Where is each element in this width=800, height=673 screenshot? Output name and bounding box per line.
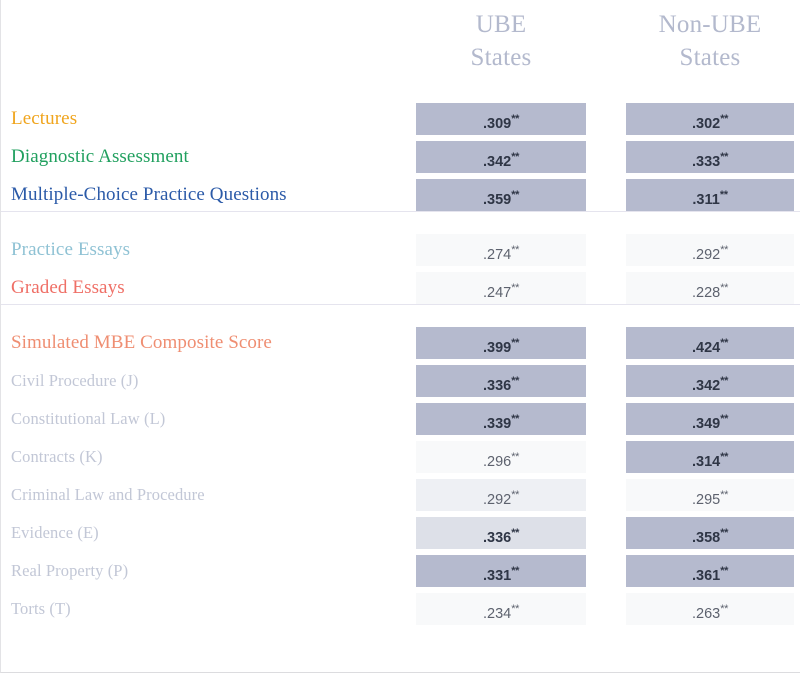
column-header-non-ube-line2: States — [626, 41, 794, 74]
significance-marker: ** — [720, 489, 728, 501]
significance-marker: ** — [720, 337, 728, 349]
value-text: .228 — [692, 285, 720, 301]
significance-marker: ** — [720, 151, 728, 163]
value-text: .358 — [692, 530, 720, 546]
table-row: Contracts (K).296**.314** — [1, 441, 800, 473]
value-text: .361 — [692, 568, 720, 584]
value-text: .349 — [692, 416, 720, 432]
significance-marker: ** — [511, 565, 519, 577]
row-label: Criminal Law and Procedure — [11, 479, 205, 511]
table-row: Real Property (P).331**.361** — [1, 555, 800, 587]
value-cell-non-ube: .314** — [626, 441, 794, 473]
significance-marker: ** — [511, 527, 519, 539]
significance-marker: ** — [511, 603, 519, 615]
row-label: Simulated MBE Composite Score — [11, 327, 272, 359]
significance-marker: ** — [511, 413, 519, 425]
row-label: Diagnostic Assessment — [11, 141, 189, 173]
value-cell-ube: .342** — [416, 141, 586, 173]
significance-marker: ** — [720, 603, 728, 615]
value-cell-ube: .296** — [416, 441, 586, 473]
row-label: Multiple-Choice Practice Questions — [11, 179, 287, 211]
value-cell-ube: .336** — [416, 365, 586, 397]
significance-marker: ** — [511, 337, 519, 349]
value-text: .296 — [483, 454, 511, 470]
value-text: .311 — [692, 192, 719, 208]
table-row: Graded Essays.247**.228** — [1, 272, 800, 304]
significance-marker: ** — [511, 113, 519, 125]
value-cell-non-ube: .349** — [626, 403, 794, 435]
value-text: .342 — [692, 378, 720, 394]
section-divider — [1, 211, 800, 212]
column-header-non-ube-states: Non-UBE States — [626, 8, 794, 74]
significance-marker: ** — [720, 282, 728, 294]
column-header-ube-line1: UBE — [476, 11, 527, 38]
value-cell-ube: .359** — [416, 179, 586, 211]
value-text: .292 — [483, 492, 511, 508]
significance-marker: ** — [720, 565, 728, 577]
significance-marker: ** — [511, 489, 519, 501]
significance-marker: ** — [720, 413, 728, 425]
table-row: Evidence (E).336**.358** — [1, 517, 800, 549]
value-cell-ube: .331** — [416, 555, 586, 587]
table-row: Practice Essays.274**.292** — [1, 234, 800, 266]
value-cell-ube: .247** — [416, 272, 586, 304]
table-row: Constitutional Law (L).339**.349** — [1, 403, 800, 435]
value-text: .314 — [692, 454, 720, 470]
value-text: .424 — [692, 340, 720, 356]
value-cell-ube: .234** — [416, 593, 586, 625]
value-cell-ube: .274** — [416, 234, 586, 266]
value-text: .295 — [692, 492, 720, 508]
row-label: Real Property (P) — [11, 555, 128, 587]
row-label: Evidence (E) — [11, 517, 99, 549]
row-label: Constitutional Law (L) — [11, 403, 165, 435]
significance-marker: ** — [511, 282, 519, 294]
significance-marker: ** — [720, 527, 728, 539]
section-divider — [1, 304, 800, 305]
value-text: .342 — [483, 154, 511, 170]
value-text: .302 — [692, 116, 720, 132]
value-cell-non-ube: .361** — [626, 555, 794, 587]
value-text: .339 — [483, 416, 511, 432]
significance-marker: ** — [720, 244, 728, 256]
value-cell-non-ube: .342** — [626, 365, 794, 397]
row-label: Graded Essays — [11, 272, 125, 304]
value-cell-non-ube: .295** — [626, 479, 794, 511]
value-cell-non-ube: .302** — [626, 103, 794, 135]
value-text: .333 — [692, 154, 720, 170]
value-cell-non-ube: .263** — [626, 593, 794, 625]
value-text: .234 — [483, 606, 511, 622]
column-header-ube-states: UBE States — [416, 8, 586, 74]
significance-marker: ** — [511, 375, 519, 387]
value-cell-non-ube: .228** — [626, 272, 794, 304]
row-label: Contracts (K) — [11, 441, 103, 473]
column-header-row: UBE States Non-UBE States — [1, 0, 800, 90]
value-text: .399 — [483, 340, 511, 356]
value-text: .309 — [483, 116, 511, 132]
significance-marker: ** — [720, 189, 728, 201]
value-cell-non-ube: .292** — [626, 234, 794, 266]
value-text: .247 — [483, 285, 511, 301]
value-cell-ube: .336** — [416, 517, 586, 549]
value-text: .263 — [692, 606, 720, 622]
row-label: Lectures — [11, 103, 77, 135]
significance-marker: ** — [511, 244, 519, 256]
value-text: .292 — [692, 247, 720, 263]
significance-marker: ** — [511, 189, 519, 201]
value-cell-ube: .399** — [416, 327, 586, 359]
value-text: .274 — [483, 247, 511, 263]
significance-marker: ** — [511, 451, 519, 463]
table-row: Criminal Law and Procedure.292**.295** — [1, 479, 800, 511]
value-text: .336 — [483, 530, 511, 546]
value-text: .331 — [483, 568, 511, 584]
value-text: .359 — [483, 192, 511, 208]
significance-marker: ** — [720, 375, 728, 387]
table-row: Lectures.309**.302** — [1, 103, 800, 135]
significance-marker: ** — [720, 451, 728, 463]
value-cell-ube: .292** — [416, 479, 586, 511]
row-label: Civil Procedure (J) — [11, 365, 138, 397]
row-label: Practice Essays — [11, 234, 130, 266]
value-text: .336 — [483, 378, 511, 394]
value-cell-non-ube: .424** — [626, 327, 794, 359]
significance-marker: ** — [511, 151, 519, 163]
row-label: Torts (T) — [11, 593, 71, 625]
value-cell-non-ube: .358** — [626, 517, 794, 549]
table-row: Simulated MBE Composite Score.399**.424*… — [1, 327, 800, 359]
correlation-table-figure: UBE States Non-UBE States Lectures.309**… — [0, 0, 800, 673]
table-row: Civil Procedure (J).336**.342** — [1, 365, 800, 397]
column-header-non-ube-line1: Non-UBE — [659, 11, 762, 38]
value-cell-ube: .309** — [416, 103, 586, 135]
value-cell-ube: .339** — [416, 403, 586, 435]
column-header-ube-line2: States — [416, 41, 586, 74]
table-row: Multiple-Choice Practice Questions.359**… — [1, 179, 800, 211]
value-cell-non-ube: .333** — [626, 141, 794, 173]
table-row: Diagnostic Assessment.342**.333** — [1, 141, 800, 173]
table-row: Torts (T).234**.263** — [1, 593, 800, 625]
value-cell-non-ube: .311** — [626, 179, 794, 211]
significance-marker: ** — [720, 113, 728, 125]
